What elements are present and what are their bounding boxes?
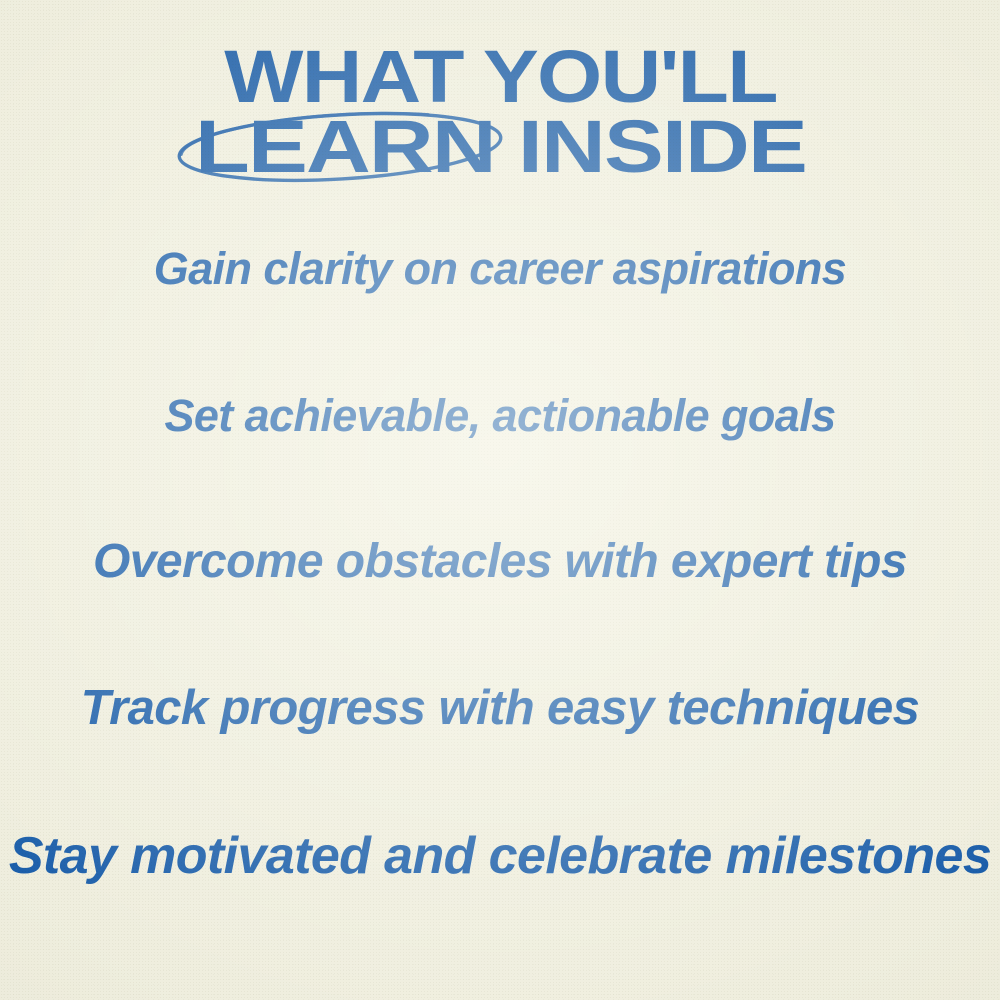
poster-canvas: WHAT YOU'LL LEARN INSIDE Gain clarity on…: [0, 0, 1000, 1000]
list-item: Set achievable, actionable goals: [0, 393, 1000, 438]
list-item: Track progress with easy techniques: [0, 684, 1000, 733]
list-item: Gain clarity on career aspirations: [0, 246, 1000, 291]
heading-block: WHAT YOU'LL LEARN INSIDE: [0, 44, 1000, 192]
list-item: Stay motivated and celebrate milestones: [0, 830, 1000, 882]
heading-line-2: LEARN INSIDE: [195, 106, 806, 189]
benefits-list: Gain clarity on career aspirations Set a…: [0, 208, 1000, 978]
heading-artwork: WHAT YOU'LL LEARN INSIDE: [0, 44, 1000, 192]
list-item: Overcome obstacles with expert tips: [0, 538, 1000, 586]
